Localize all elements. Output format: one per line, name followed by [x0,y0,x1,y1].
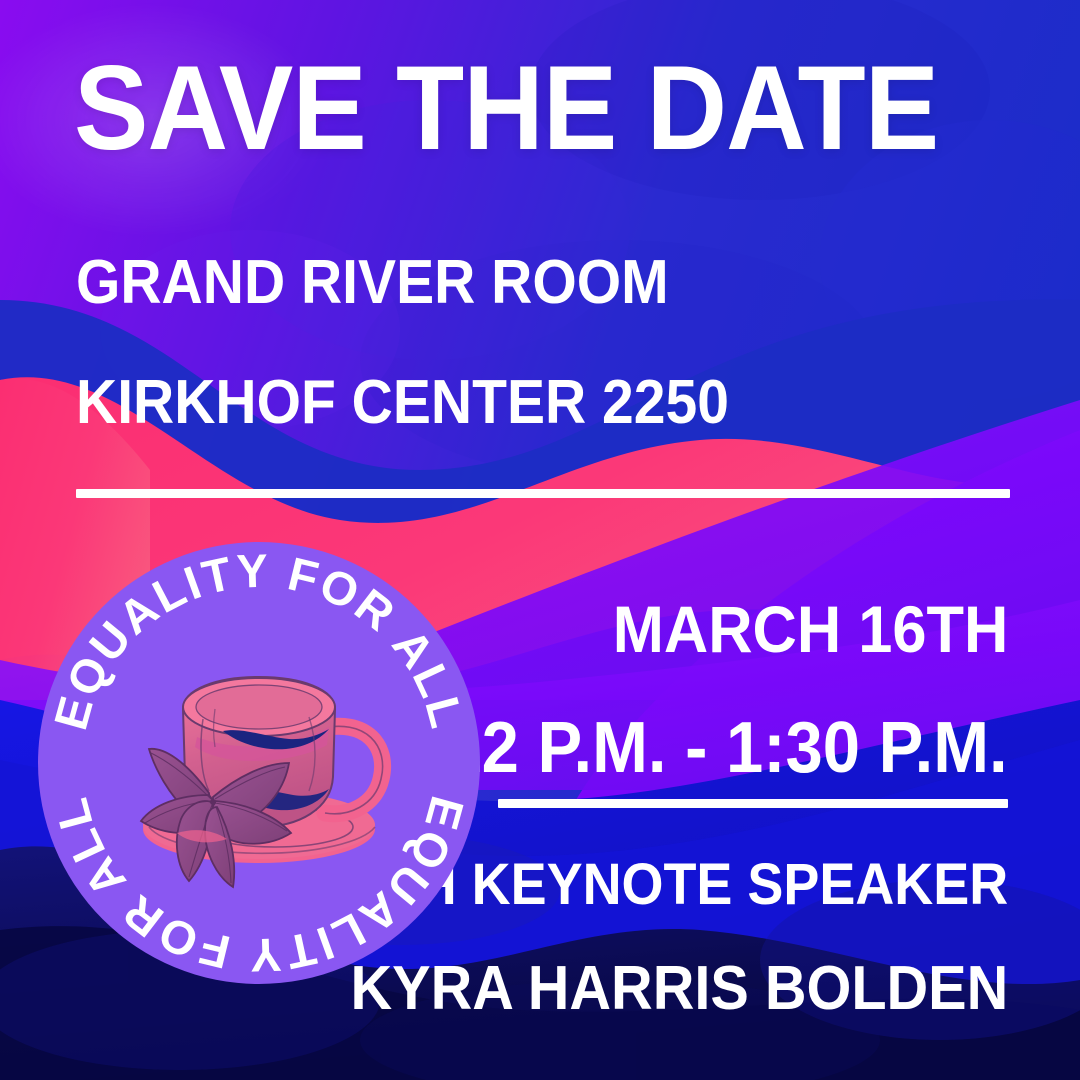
page-title: SAVE THE DATE [74,48,938,168]
save-the-date-poster: SAVE THE DATE GRAND RIVER ROOM KIRKHOF C… [0,0,1080,1080]
divider-top [76,489,1010,498]
equality-for-all-badge: EQUALITY FOR ALL EQUALITY FOR ALL [37,541,481,985]
divider-middle [498,799,1008,808]
venue-line-2: KIRKHOF CENTER 2250 [76,372,729,434]
event-date: MARCH 16TH [612,596,1008,662]
venue-line-1: GRAND RIVER ROOM [76,252,669,314]
event-time: 12 P.M. - 1:30 P.M. [445,712,1008,784]
